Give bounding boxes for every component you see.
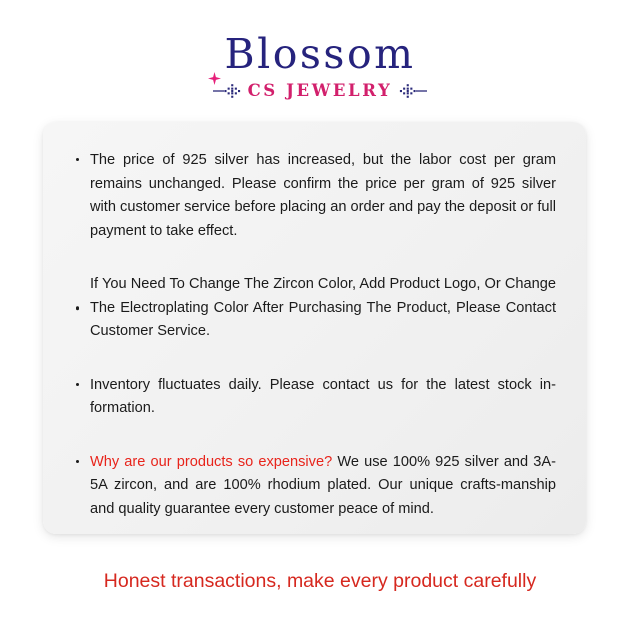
brand-subtitle-text: CS JEWELRY [248,81,393,100]
bullet-dot-icon [76,460,79,463]
footer-tagline: Honest transactions, make every product … [0,568,640,594]
brand-wordmark: Blossom [224,30,415,78]
brand-header: Blossom [0,30,640,100]
notice-text-inventory: Inventory fluctuates daily. Please conta… [90,377,556,417]
list-item: The price of 925 silver has increased, b… [73,149,556,243]
sparkle-diamond-icon [208,47,221,60]
notice-text-customization: If You Need To Change The Zircon Color, … [90,276,556,339]
brand-subtitle-row: CS JEWELRY [0,81,640,100]
bullet-dot-icon [76,158,79,161]
list-item: If You Need To Change The Zircon Color, … [73,273,556,344]
promo-banner-page: Blossom [0,0,640,640]
list-item: Why are our products so expensive? We us… [73,451,556,522]
bullet-dot-icon [76,383,79,386]
snowflake-ornament-icon [397,83,427,99]
notice-list: The price of 925 silver has increased, b… [73,149,556,521]
list-item: Inventory fluctuates daily. Please conta… [73,374,556,421]
notice-text-price: The price of 925 silver has increased, b… [90,152,556,239]
notice-lead-question: Why are our products so expensive? [90,454,332,470]
snowflake-ornament-icon [213,83,243,99]
brand-name-text: Blossom [224,30,415,78]
bullet-dot-icon [76,307,79,310]
notice-card: The price of 925 silver has increased, b… [43,122,586,534]
